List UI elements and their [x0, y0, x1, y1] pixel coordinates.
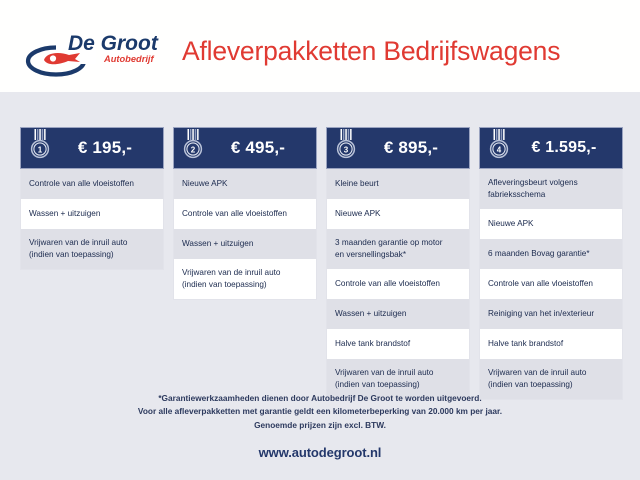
package-feature-item: Vrijwaren van de inruil auto (indien van…	[174, 259, 316, 299]
package-feature-item: Halve tank brandstof	[480, 329, 622, 359]
package-feature-item: Nieuwe APK	[174, 169, 316, 199]
svg-text:Autobedrijf: Autobedrijf	[103, 54, 154, 64]
package-feature-item: Reiniging van het in/exterieur	[480, 299, 622, 329]
package-feature-label: Controle van alle vloeistoffen	[335, 278, 440, 290]
medal-number: 4	[497, 145, 502, 154]
package-price: € 495,-	[206, 138, 316, 158]
package-price-header: 4€ 1.595,-	[479, 127, 623, 169]
package-price-header: 3€ 895,-	[326, 127, 470, 169]
package-feature-label: Halve tank brandstof	[335, 338, 410, 350]
package-column: 4€ 1.595,-Afleveringsbeurt volgens fabri…	[479, 127, 623, 400]
package-feature-item: Controle van alle vloeistoffen	[480, 269, 622, 299]
package-feature-item: Wassen + uitzuigen	[327, 299, 469, 329]
package-feature-item: Kleine beurt	[327, 169, 469, 199]
medal-number: 1	[38, 145, 43, 154]
package-feature-item: Afleveringsbeurt volgens fabrieksschema	[480, 169, 622, 209]
package-feature-label: Nieuwe APK	[488, 218, 534, 230]
package-feature-list: Nieuwe APKControle van alle vloeistoffen…	[173, 169, 317, 300]
package-feature-list: Afleveringsbeurt volgens fabrieksschemaN…	[479, 169, 623, 400]
package-feature-item: Wassen + uitzuigen	[21, 199, 163, 229]
package-feature-item: Nieuwe APK	[480, 209, 622, 239]
package-feature-label: 3 maanden garantie op motor en versnelli…	[335, 237, 442, 261]
page-root: De Groot Autobedrijf Afleverpakketten Be…	[0, 0, 640, 480]
package-feature-label: Vrijwaren van de inruil auto (indien van…	[488, 367, 586, 391]
svg-text:De Groot: De Groot	[68, 32, 159, 55]
package-price-header: 2€ 495,-	[173, 127, 317, 169]
package-feature-item: Wassen + uitzuigen	[174, 229, 316, 259]
medal-icon: 3	[333, 128, 359, 162]
package-price: € 1.595,-	[512, 139, 622, 157]
de-groot-swoosh-logo: De Groot Autobedrijf	[22, 28, 170, 78]
footer-note-3: Genoemde prijzen zijn excl. BTW.	[0, 419, 640, 432]
package-feature-label: Nieuwe APK	[335, 208, 381, 220]
website-url-link[interactable]: www.autodegroot.nl	[0, 445, 640, 460]
package-price: € 195,-	[53, 138, 163, 158]
medal-number: 2	[191, 145, 196, 154]
package-feature-item: Controle van alle vloeistoffen	[21, 169, 163, 199]
page-title: Afleverpakketten Bedrijfswagens	[182, 36, 560, 67]
package-feature-label: Wassen + uitzuigen	[182, 238, 253, 250]
package-feature-label: Nieuwe APK	[182, 178, 228, 190]
package-feature-list: Kleine beurtNieuwe APK3 maanden garantie…	[326, 169, 470, 400]
package-feature-label: Halve tank brandstof	[488, 338, 563, 350]
package-feature-label: Vrijwaren van de inruil auto (indien van…	[182, 267, 280, 291]
page-footer: *Garantiewerkzaamheden dienen door Autob…	[0, 392, 640, 460]
package-feature-list: Controle van alle vloeistoffenWassen + u…	[20, 169, 164, 270]
package-feature-label: Wassen + uitzuigen	[335, 308, 406, 320]
package-feature-item: Vrijwaren van de inruil auto (indien van…	[21, 229, 163, 269]
footer-note-2: Voor alle afleverpakketten met garantie …	[0, 405, 640, 418]
package-feature-label: 6 maanden Bovag garantie*	[488, 248, 590, 260]
package-columns: 1€ 195,-Controle van alle vloeistoffenWa…	[20, 127, 620, 400]
package-feature-item: Controle van alle vloeistoffen	[327, 269, 469, 299]
medal-icon: 2	[180, 128, 206, 162]
package-feature-label: Controle van alle vloeistoffen	[488, 278, 593, 290]
package-feature-item: Controle van alle vloeistoffen	[174, 199, 316, 229]
page-header: De Groot Autobedrijf Afleverpakketten Be…	[0, 0, 640, 92]
package-price-header: 1€ 195,-	[20, 127, 164, 169]
package-feature-label: Vrijwaren van de inruil auto (indien van…	[29, 237, 127, 261]
package-feature-item: 6 maanden Bovag garantie*	[480, 239, 622, 269]
company-logo[interactable]: De Groot Autobedrijf	[22, 28, 170, 78]
package-feature-item: Halve tank brandstof	[327, 329, 469, 359]
medal-icon: 4	[486, 128, 512, 162]
package-feature-label: Vrijwaren van de inruil auto (indien van…	[335, 367, 433, 391]
package-feature-label: Kleine beurt	[335, 178, 379, 190]
package-feature-label: Controle van alle vloeistoffen	[182, 208, 287, 220]
package-feature-label: Controle van alle vloeistoffen	[29, 178, 134, 190]
package-feature-label: Afleveringsbeurt volgens fabrieksschema	[488, 177, 578, 201]
package-feature-label: Reiniging van het in/exterieur	[488, 308, 594, 320]
package-feature-label: Wassen + uitzuigen	[29, 208, 100, 220]
package-feature-item: 3 maanden garantie op motor en versnelli…	[327, 229, 469, 269]
package-feature-item: Nieuwe APK	[327, 199, 469, 229]
medal-number: 3	[344, 145, 349, 154]
package-column: 1€ 195,-Controle van alle vloeistoffenWa…	[20, 127, 164, 400]
package-column: 3€ 895,-Kleine beurtNieuwe APK3 maanden …	[326, 127, 470, 400]
package-price: € 895,-	[359, 138, 469, 158]
medal-icon: 1	[27, 128, 53, 162]
package-column: 2€ 495,-Nieuwe APKControle van alle vloe…	[173, 127, 317, 400]
footer-note-1: *Garantiewerkzaamheden dienen door Autob…	[0, 392, 640, 405]
